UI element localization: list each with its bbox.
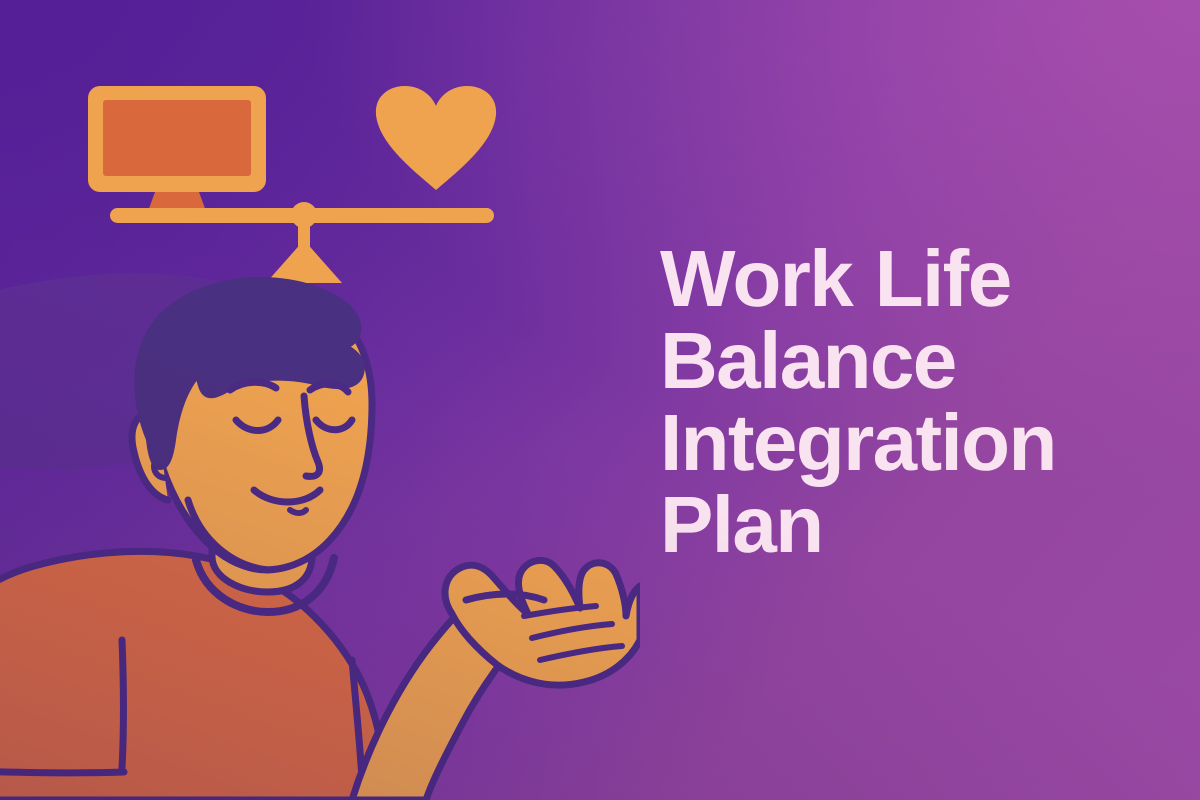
person-head — [132, 277, 372, 570]
monitor-icon — [88, 86, 266, 214]
balance-scale — [88, 86, 496, 283]
work-life-balance-illustration — [0, 0, 640, 800]
title-line-2: Balance — [660, 320, 1160, 402]
heart-icon — [376, 86, 496, 190]
title-line-3: Integration — [660, 402, 1160, 484]
person-torso — [0, 551, 388, 800]
title-slide: Work Life Balance Integration Plan — [0, 0, 1200, 800]
page-title: Work Life Balance Integration Plan — [660, 238, 1160, 566]
open-palm-hand — [352, 560, 640, 800]
title-line-1: Work Life — [660, 238, 1160, 320]
title-line-4: Plan — [660, 484, 1160, 566]
